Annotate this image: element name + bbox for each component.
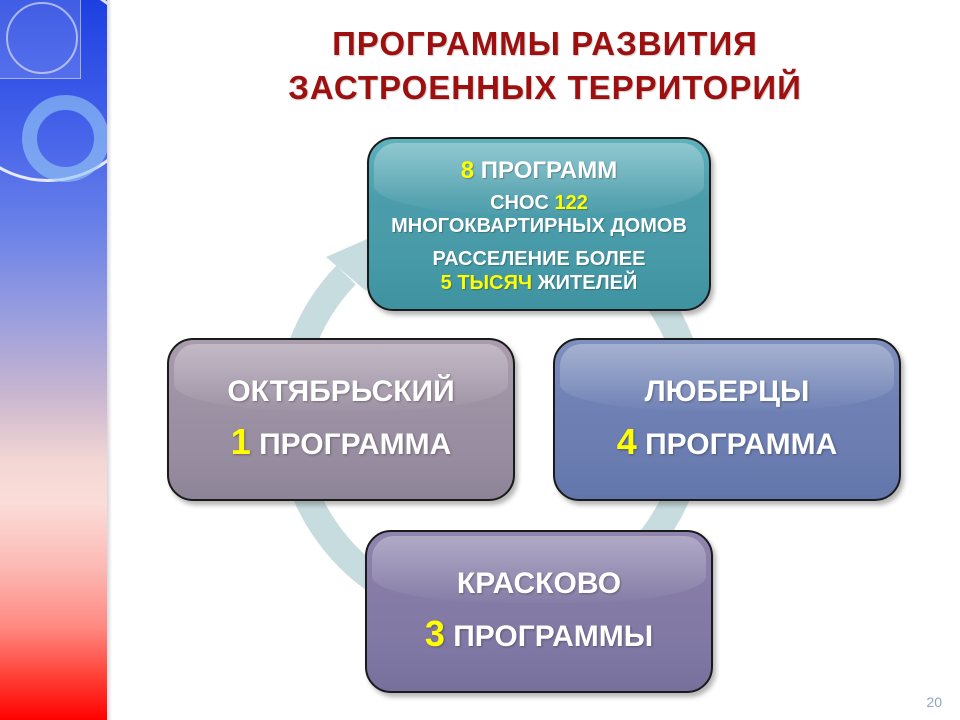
summary-demolition-prefix: СНОС	[490, 192, 549, 214]
city-program-line: 4 ПРОГРАММА	[555, 420, 899, 467]
summary-line-resettlement: РАССЕЛЕНИЕ БОЛЕЕ 5 ТЫСЯЧ ЖИТЕЛЕЙ	[369, 247, 709, 295]
summary-line-demolition: СНОС 122 МНОГОКВАРТИРНЫХ ДОМОВ	[369, 192, 709, 238]
city-node-oktyabrskiy[interactable]: ОКТЯБРЬСКИЙ 1 ПРОГРАММА	[167, 338, 515, 501]
sidebar-filled-ring-icon	[22, 95, 107, 182]
city-name-label: ОКТЯБРЬСКИЙ	[169, 372, 513, 412]
city-program-line: 1 ПРОГРАММА	[169, 420, 513, 467]
sidebar-edge-shadow	[107, 0, 112, 720]
page-title-line-1: ПРОГРАММЫ РАЗВИТИЯ	[150, 22, 940, 66]
city-program-count: 1	[231, 421, 251, 462]
summary-programs-count: 8	[461, 157, 474, 184]
summary-node-programs[interactable]: 8 ПРОГРАММ СНОС 122 МНОГОКВАРТИРНЫХ ДОМО…	[367, 137, 711, 311]
page-title-line-2: ЗАСТРОЕННЫХ ТЕРРИТОРИЙ	[150, 66, 940, 110]
decorative-sidebar	[0, 0, 107, 720]
summary-resettlement-prefix: РАССЕЛЕНИЕ БОЛЕЕ	[433, 248, 646, 270]
city-program-unit: ПРОГРАММЫ	[453, 620, 653, 653]
city-program-count: 3	[425, 613, 445, 654]
summary-resettlement-count: 5 ТЫСЯЧ	[441, 272, 532, 294]
city-program-unit: ПРОГРАММА	[645, 428, 837, 461]
city-node-lyubertsy[interactable]: ЛЮБЕРЦЫ 4 ПРОГРАММА	[553, 338, 901, 501]
page-number: 20	[926, 694, 942, 710]
summary-resettlement-suffix: ЖИТЕЛЕЙ	[538, 272, 638, 294]
city-program-unit: ПРОГРАММА	[259, 428, 451, 461]
city-name-label: КРАСКОВО	[367, 564, 711, 604]
summary-demolition-suffix: МНОГОКВАРТИРНЫХ ДОМОВ	[391, 215, 687, 237]
city-program-count: 4	[617, 421, 637, 462]
city-program-line: 3 ПРОГРАММЫ	[367, 612, 711, 659]
city-name-label: ЛЮБЕРЦЫ	[555, 372, 899, 412]
city-node-kraskovo[interactable]: КРАСКОВО 3 ПРОГРАММЫ	[365, 530, 713, 693]
summary-demolition-count: 122	[555, 192, 588, 214]
summary-programs-label: ПРОГРАММ	[481, 157, 617, 184]
summary-line-programs: 8 ПРОГРАММ	[369, 156, 709, 186]
page-title: ПРОГРАММЫ РАЗВИТИЯ ЗАСТРОЕННЫХ ТЕРРИТОРИ…	[150, 22, 940, 110]
